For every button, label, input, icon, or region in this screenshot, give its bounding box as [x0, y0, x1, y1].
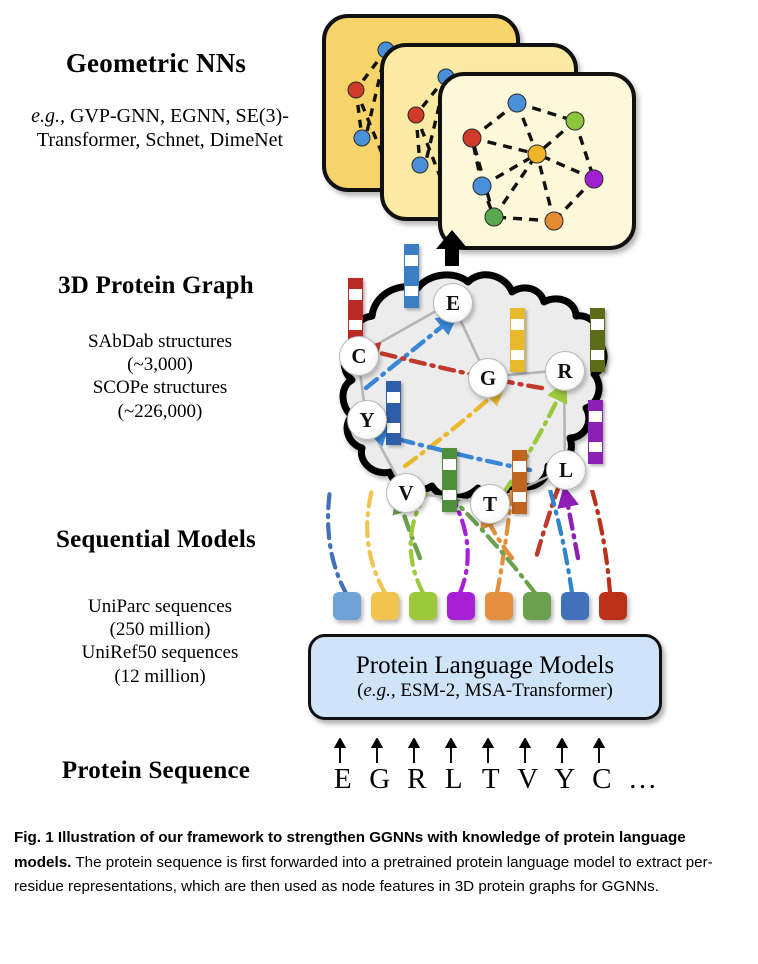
dataset-line: SAbDab structures	[10, 330, 310, 353]
dataset-line: SCOPe structures	[10, 376, 310, 399]
graph-node-L: L	[546, 450, 586, 490]
row-subtext-protein-graph: SAbDab structures (~3,000) SCOPe structu…	[10, 330, 310, 423]
protein-language-models-box: Protein Language Models (e.g., ESM-2, MS…	[308, 634, 662, 720]
swatch-residue-G	[371, 592, 399, 620]
swatch-residue-C	[599, 592, 627, 620]
plm-title: Protein Language Models	[356, 652, 614, 680]
residue-letter: E	[330, 763, 356, 796]
graph-node-Y: Y	[347, 400, 387, 440]
residue-letter: G	[367, 763, 393, 796]
swatch-residue-T	[485, 592, 513, 620]
graph-node-C: C	[339, 336, 379, 376]
plm-eg-prefix: e.g.,	[363, 680, 395, 701]
feature-bar-Y	[386, 381, 401, 445]
sequence-up-arrows	[334, 738, 634, 764]
residue-letter: C	[589, 763, 615, 796]
residue-letter: V	[515, 763, 541, 796]
graph-node-G: G	[468, 358, 508, 398]
geometric-nn-card-stack	[316, 8, 616, 213]
swatch-residue-Y	[561, 592, 589, 620]
swatch-residue-R	[409, 592, 437, 620]
graph-node-T: T	[470, 484, 510, 524]
per-residue-representation-swatches	[333, 592, 629, 622]
eg-prefix-geometric: e.g.,	[31, 105, 65, 127]
dataset-line: (~3,000)	[10, 353, 310, 376]
residue-letter: Y	[552, 763, 578, 796]
feature-bar-G	[510, 308, 525, 372]
residue-letter: R	[404, 763, 430, 796]
feature-bar-L	[588, 400, 603, 464]
residue-letter: L	[441, 763, 467, 796]
feature-bar-R	[590, 308, 605, 372]
figure-caption: Fig. 1 Illustration of our framework to …	[14, 826, 740, 900]
row-title-sequential-models: Sequential Models	[0, 526, 312, 554]
dataset-line: (250 million)	[10, 618, 310, 641]
feature-bar-V	[442, 448, 457, 512]
swatch-residue-E	[333, 592, 361, 620]
dataset-line: UniParc sequences	[10, 595, 310, 618]
row-subtext-sequential-models: UniParc sequences (250 million) UniRef50…	[10, 595, 310, 688]
dataset-line: (~226,000)	[10, 400, 310, 423]
plm-examples: (e.g., ESM-2, MSA-Transformer)	[357, 680, 613, 701]
plm-example-list: ESM-2, MSA-Transformer)	[396, 680, 613, 701]
feature-bar-T	[512, 450, 527, 514]
graph-node-R: R	[545, 351, 585, 391]
row-title-geometric-nns: Geometric NNs	[0, 48, 312, 79]
feature-bar-C	[348, 278, 363, 342]
gnn-graph-front	[442, 76, 632, 246]
caption-rest: The protein sequence is first forwarded …	[14, 854, 713, 896]
row-title-protein-sequence: Protein Sequence	[0, 757, 312, 785]
gnn-card-front	[438, 72, 636, 250]
graph-node-V: V	[386, 473, 426, 513]
graph-node-E: E	[433, 283, 473, 323]
figure-root: Geometric NNs e.g., GVP-GNN, EGNN, SE(3)…	[0, 0, 758, 964]
row-subtext-geometric-nns: e.g., GVP-GNN, EGNN, SE(3)-Transformer, …	[10, 104, 310, 153]
protein-sequence-letters: E G R L T V Y C …	[330, 763, 660, 803]
row-title-protein-graph: 3D Protein Graph	[0, 272, 312, 300]
swatch-residue-L	[447, 592, 475, 620]
dataset-line: UniRef50 sequences	[10, 641, 310, 664]
residue-letter: T	[478, 763, 504, 796]
feature-bar-E	[404, 244, 419, 308]
swatch-residue-V	[523, 592, 551, 620]
dataset-line: (12 million)	[10, 665, 310, 688]
examples-geometric: GVP-GNN, EGNN, SE(3)-Transformer, Schnet…	[37, 105, 289, 151]
sequence-ellipsis: …	[628, 763, 654, 796]
